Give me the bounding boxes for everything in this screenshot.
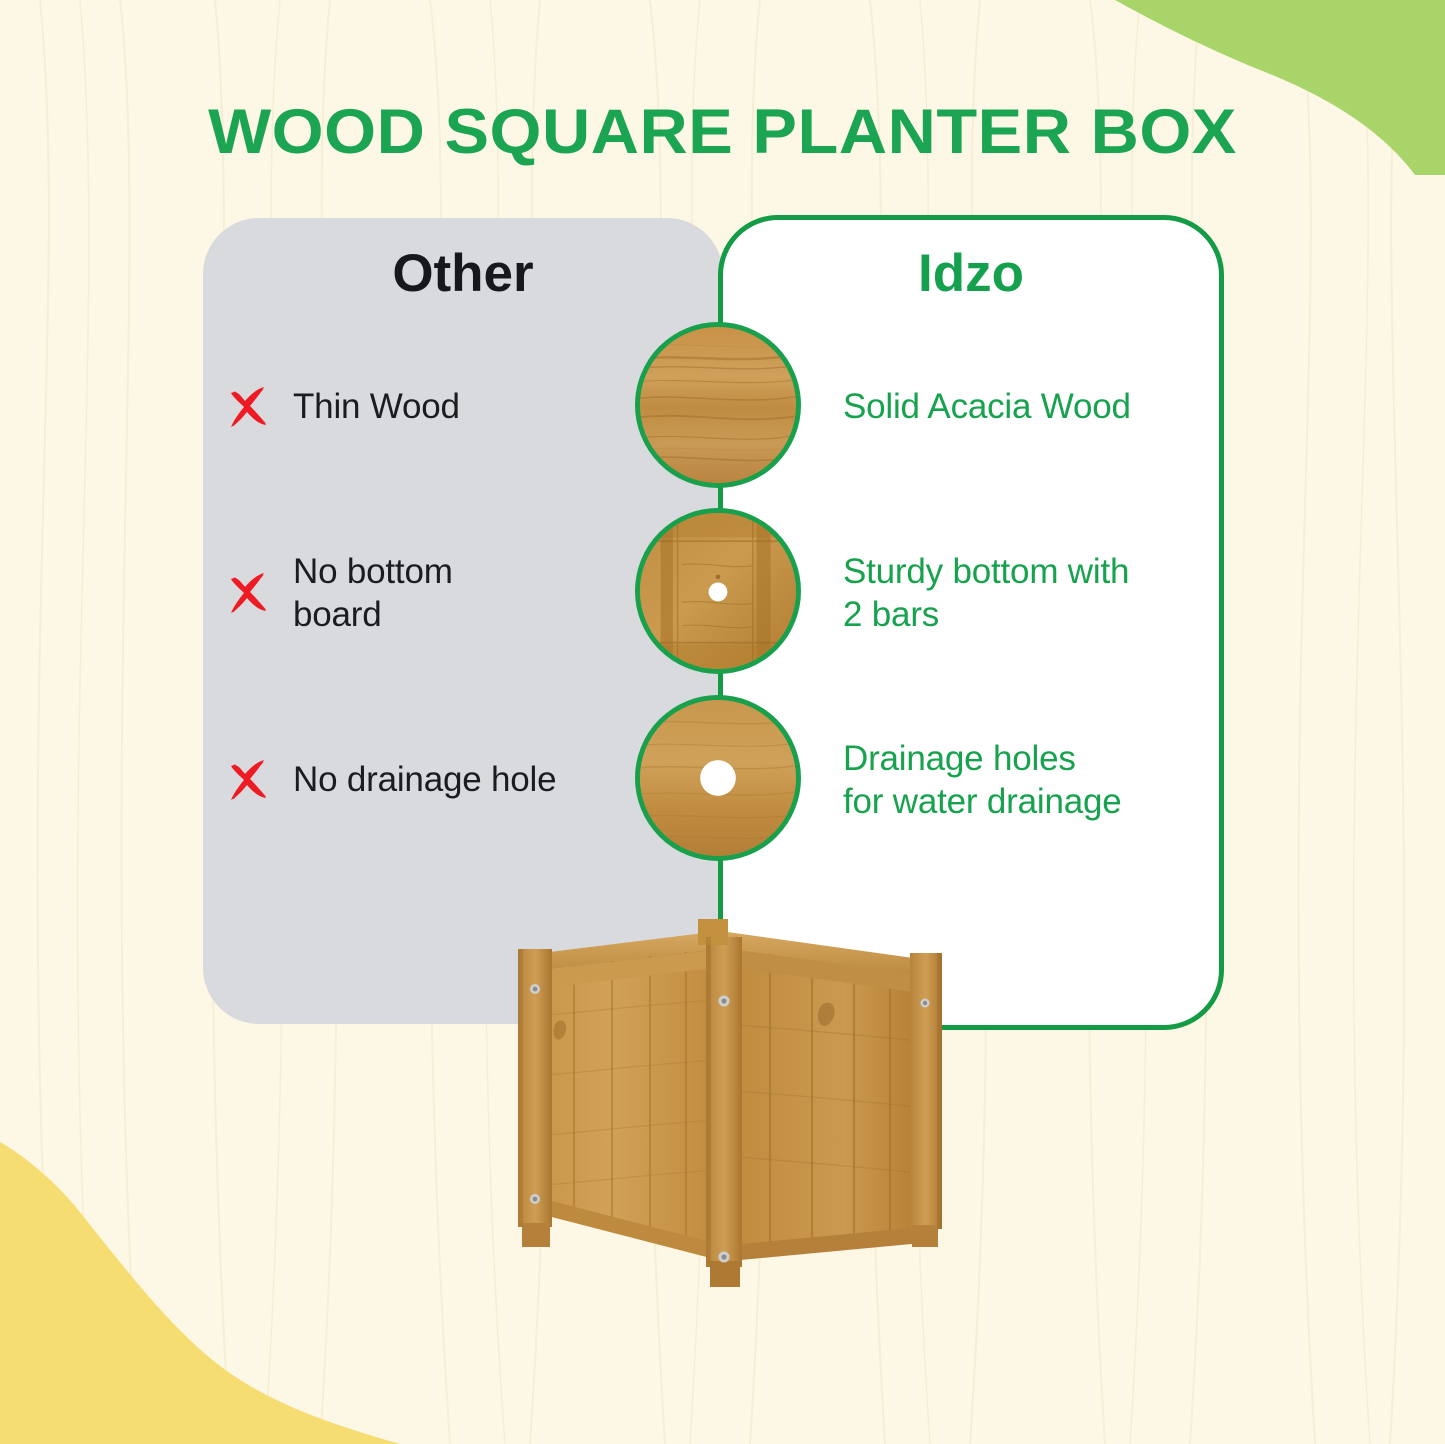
- page-title: WOOD SQUARE PLANTER BOX: [0, 96, 1445, 168]
- wood-square-planter-box-photo: [470, 905, 970, 1325]
- pro-text-line: Drainage holes: [843, 737, 1122, 780]
- column-header-idzo: Idzo: [718, 243, 1224, 304]
- comparison-row: No bottom board: [203, 508, 1224, 678]
- pro-cell: Sturdy bottom with 2 bars: [843, 508, 1223, 678]
- media-cell: [635, 322, 805, 492]
- pro-text-line: 2 bars: [843, 593, 1129, 636]
- pro-text-line: Solid Acacia Wood: [843, 385, 1131, 428]
- media-cell: [635, 695, 805, 865]
- media-cell: [635, 508, 805, 678]
- pro-cell: Drainage holes for water drainage: [843, 695, 1223, 865]
- pro-text-line: for water drainage: [843, 780, 1122, 823]
- con-text-line: No bottom: [293, 550, 453, 593]
- con-text: Thin Wood: [293, 385, 460, 428]
- pro-text: Solid Acacia Wood: [843, 385, 1131, 428]
- con-cell: No drainage hole: [225, 695, 655, 865]
- con-text-line: board: [293, 593, 453, 636]
- pro-text: Sturdy bottom with 2 bars: [843, 550, 1129, 636]
- wood-grain-closeup-image: [635, 322, 801, 488]
- pro-text: Drainage holes for water drainage: [843, 737, 1122, 823]
- red-x-icon: [225, 570, 271, 616]
- con-cell: No bottom board: [225, 508, 655, 678]
- red-x-icon: [225, 384, 271, 430]
- red-x-icon: [225, 757, 271, 803]
- pro-cell: Solid Acacia Wood: [843, 322, 1223, 492]
- bottom-board-with-bars-image: [635, 508, 801, 674]
- con-text-line: Thin Wood: [293, 385, 460, 428]
- con-text: No drainage hole: [293, 758, 556, 801]
- con-cell: Thin Wood: [225, 322, 655, 492]
- pro-text-line: Sturdy bottom with: [843, 550, 1129, 593]
- column-header-other: Other: [203, 243, 723, 304]
- decorative-yellow-blob-bottom-left: [0, 1134, 400, 1444]
- con-text-line: No drainage hole: [293, 758, 556, 801]
- comparison-row: Thin Wood: [203, 322, 1224, 492]
- drainage-hole-closeup-image: [635, 695, 801, 861]
- con-text: No bottom board: [293, 550, 453, 636]
- comparison-row: No drainage hole: [203, 695, 1224, 865]
